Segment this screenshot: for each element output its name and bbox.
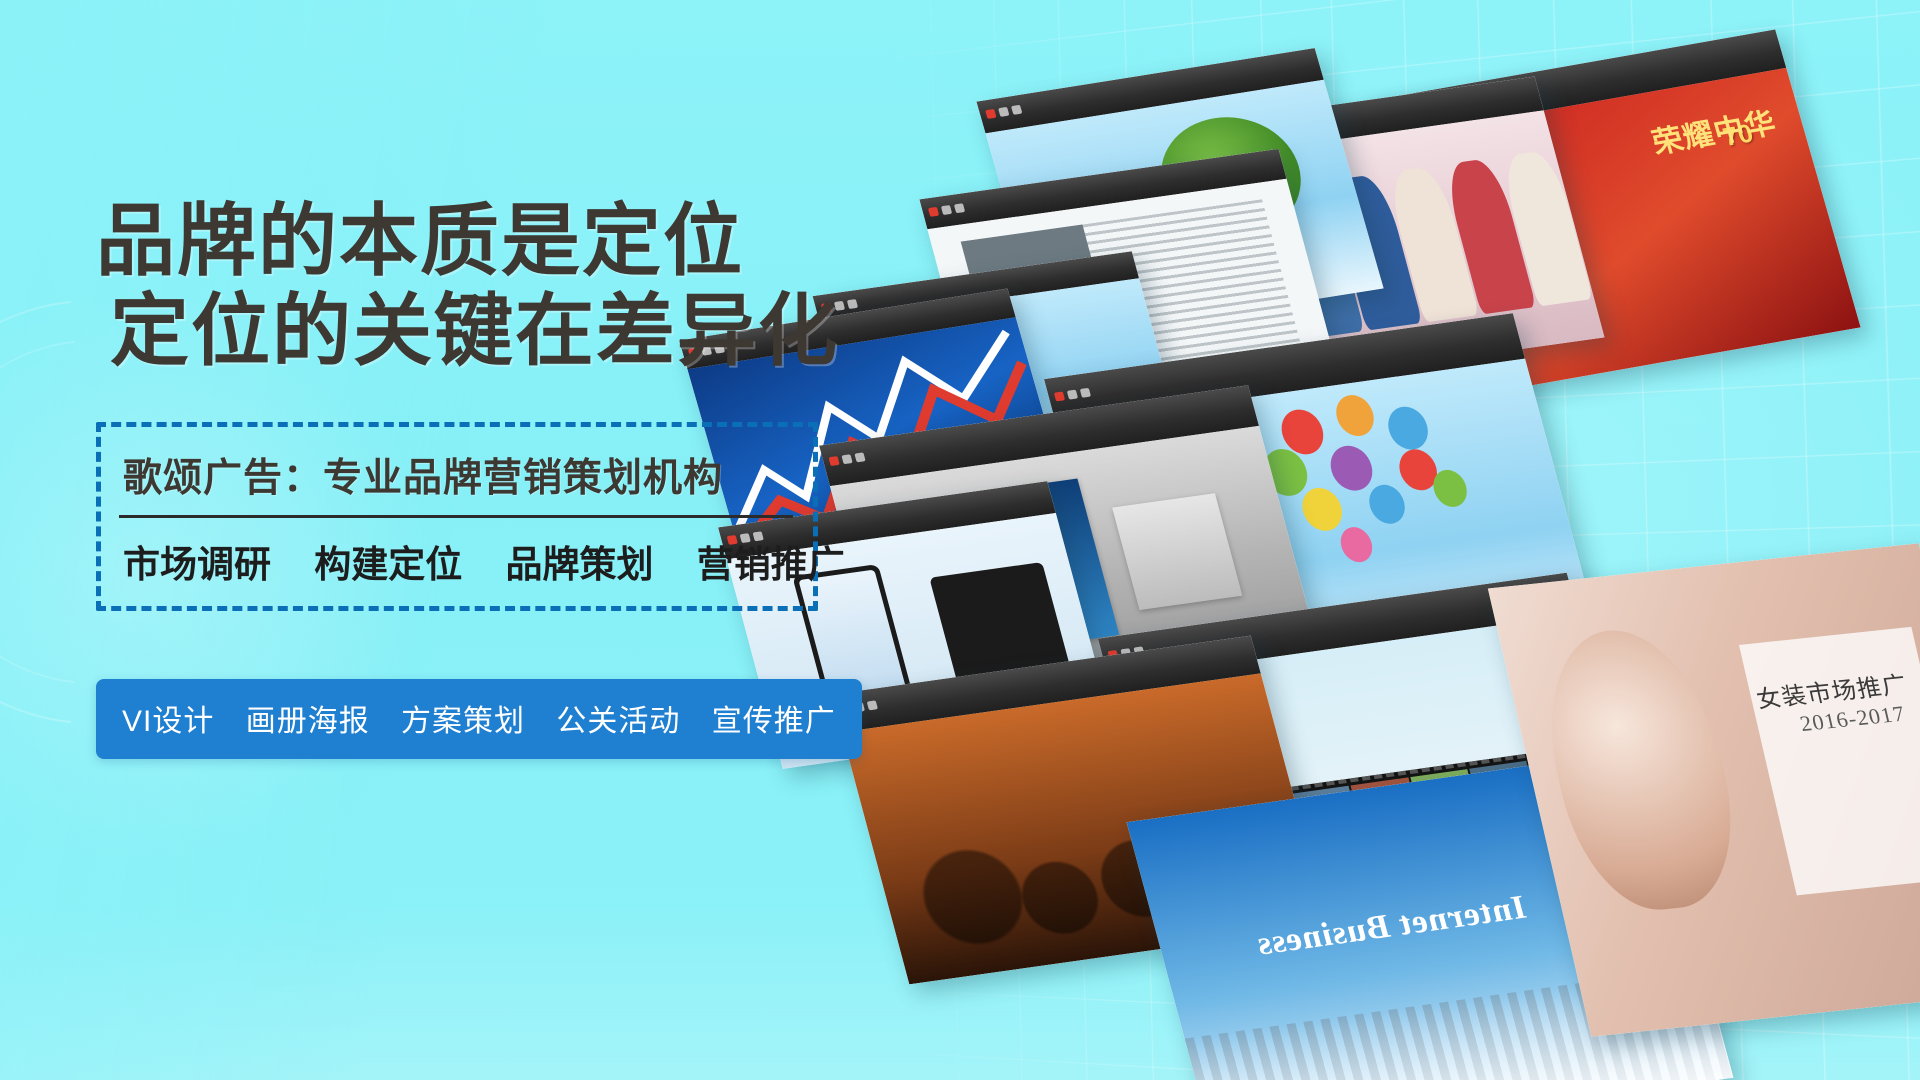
- cta-tag-1[interactable]: 画册海报: [246, 705, 370, 738]
- service-item-3: 营销推广: [697, 545, 845, 586]
- advertising-banner: 70 荣耀中华: [0, 0, 1920, 1080]
- cta-tag-4[interactable]: 宣传推广: [712, 705, 836, 738]
- cta-tag-3[interactable]: 公关活动: [556, 705, 680, 738]
- copy-block: 品牌的本质是定位 定位的关键在差异化 歌颂广告：专业品牌营销策划机构 市场调研 …: [96, 196, 836, 759]
- service-item-0: 市场调研: [123, 545, 271, 586]
- agency-dashed-box: 歌颂广告：专业品牌营销策划机构 市场调研 构建定位 品牌策划 营销推广: [96, 422, 818, 611]
- cta-tag-2[interactable]: 方案策划: [401, 705, 525, 738]
- cta-tag-0[interactable]: VI设计: [122, 705, 214, 738]
- headline-line-2: 定位的关键在差异化: [96, 286, 836, 376]
- services-list: 市场调研 构建定位 品牌策划 营销推广: [101, 518, 813, 592]
- service-item-2: 品牌策划: [506, 545, 654, 586]
- page-title: 品牌的本质是定位 定位的关键在差异化: [96, 196, 836, 376]
- service-item-1: 构建定位: [314, 545, 462, 586]
- headline-line-1: 品牌的本质是定位: [96, 196, 836, 286]
- portfolio-collage: 70 荣耀中华: [840, 0, 1920, 1080]
- service-tags-list: VI设计 画册海报 方案策划 公关活动 宣传推广: [122, 696, 836, 740]
- service-tags-button[interactable]: VI设计 画册海报 方案策划 公关活动 宣传推广: [96, 679, 862, 759]
- agency-tagline: 歌颂广告：专业品牌营销策划机构: [101, 443, 813, 513]
